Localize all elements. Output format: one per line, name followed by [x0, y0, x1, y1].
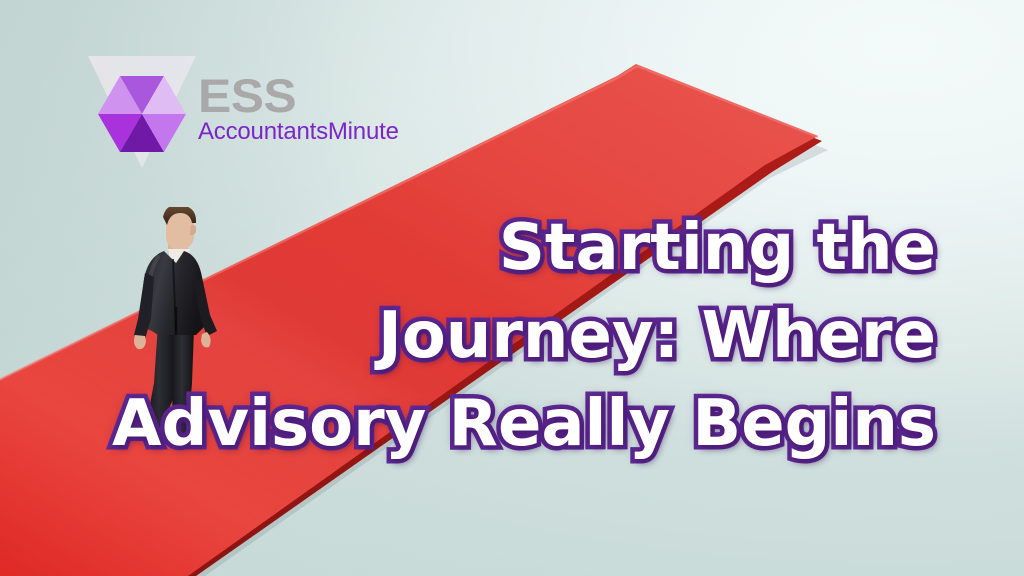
title-line-1: Starting the [0, 204, 936, 292]
title-line-2: Journey: Where [0, 292, 936, 380]
video-thumbnail-canvas: ESS AccountantsMinute Starting the Journ… [0, 0, 1024, 576]
hexagon-triangles-logo-icon [86, 52, 198, 170]
title-line-3: Advisory Really Begins [0, 380, 936, 468]
title-block: Starting the Journey: Where Advisory Rea… [0, 204, 1024, 468]
brand-tagline: AccountantsMinute [198, 119, 454, 144]
brand-logo[interactable]: ESS AccountantsMinute [86, 52, 454, 174]
brand-name: ESS [198, 74, 469, 117]
brand-wordmark: ESS AccountantsMinute [198, 74, 454, 144]
